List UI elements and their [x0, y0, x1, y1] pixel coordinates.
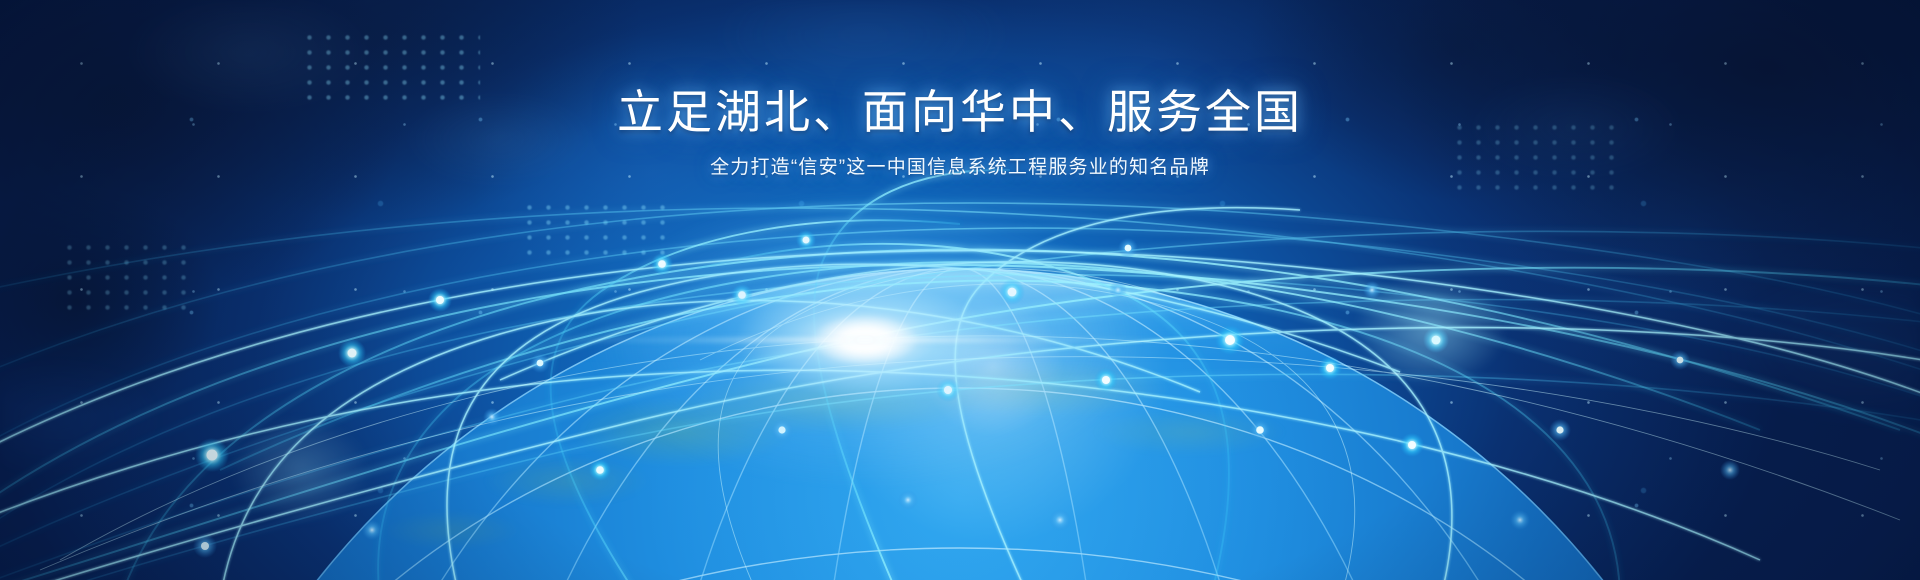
hero-subline: 全力打造“信安”这一中国信息系统工程服务业的知名品牌 [0, 156, 1920, 181]
network-node-group [193, 230, 1740, 558]
central-light-burst-ray [515, 335, 1215, 345]
hero-banner: 立足湖北、面向华中、服务全国 全力打造“信安”这一中国信息系统工程服务业的知名品… [0, 0, 1920, 580]
hero-text-block: 立足湖北、面向华中、服务全国 全力打造“信安”这一中国信息系统工程服务业的知名品… [0, 84, 1920, 181]
hero-headline: 立足湖北、面向华中、服务全国 [0, 84, 1920, 140]
